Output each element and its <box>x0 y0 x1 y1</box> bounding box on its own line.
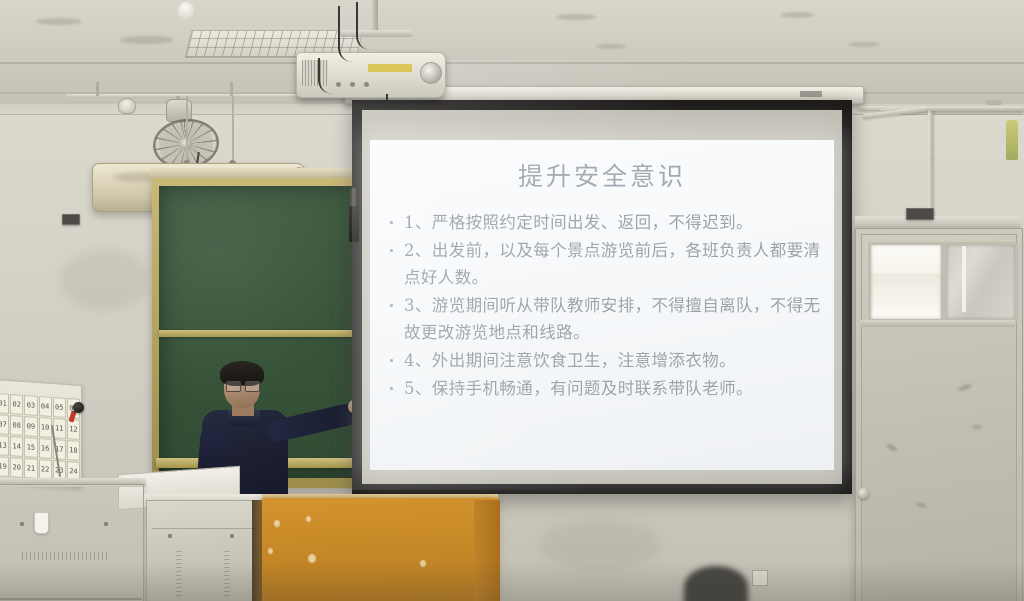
wall-clip <box>986 100 1002 105</box>
calendar-cell: 16 <box>39 438 52 459</box>
glasses-lens-left <box>226 381 241 392</box>
door-smudge <box>972 425 982 429</box>
ceiling-dome-light <box>178 2 194 20</box>
ceiling-stain <box>120 36 174 44</box>
calendar-cell: 18 <box>67 440 80 461</box>
door-smudge <box>886 442 899 452</box>
ceiling-stain <box>596 44 626 49</box>
calendar-cell: 01 <box>0 393 9 414</box>
calendar-cell: 14 <box>10 436 23 457</box>
glasses-icon <box>226 381 260 390</box>
projector-label <box>368 64 412 72</box>
slide-bullet-5: 5、保持手机畅通，有问题及时联系带队老师。 <box>388 375 822 402</box>
conduit-pipe <box>928 108 933 160</box>
roller-brand-badge <box>800 91 822 97</box>
calendar-grid: 0102030405060708091011121314151617181920… <box>0 392 81 486</box>
wall-plate <box>62 214 80 225</box>
ceiling-stain <box>556 14 596 20</box>
podium-mark <box>306 516 311 522</box>
calendar-cell: 20 <box>10 457 23 478</box>
blackboard-divider-rail <box>159 330 353 337</box>
calendar-cell: 08 <box>10 415 23 436</box>
ceiling-seam <box>0 62 1024 64</box>
ceiling-dome-light <box>118 98 136 114</box>
slide-bullet-4: 4、外出期间注意饮食卫生，注意增添衣物。 <box>388 347 822 374</box>
calendar-cell: 02 <box>10 394 23 415</box>
door-sign-plate <box>906 208 934 220</box>
projector-cable <box>318 58 334 94</box>
cabinet-screw <box>168 534 172 538</box>
calendar-cell: 12 <box>67 419 80 440</box>
calendar-cell: 09 <box>24 416 37 437</box>
door-window-left <box>868 242 944 322</box>
calendar-cell: 10 <box>39 417 52 438</box>
light-hanger-wire <box>232 96 234 166</box>
conduit-pipe <box>928 158 933 212</box>
calendar-cell: 03 <box>24 395 37 416</box>
rail-hook <box>230 82 233 96</box>
classroom-photo: 提升安全意识 1、严格按照约定时间出发、返回，不得迟到。 2、出发前，以及每个景… <box>0 0 1024 601</box>
conduit-pipe <box>928 106 1024 111</box>
window-mullion <box>962 246 966 312</box>
glasses-lens-right <box>245 381 260 392</box>
calendar-cell: 04 <box>39 396 52 417</box>
podium-mark <box>268 548 273 554</box>
cabinet-seam <box>152 528 260 529</box>
projector-button[interactable] <box>336 82 341 87</box>
cabinet-vent <box>22 552 108 560</box>
door-knob[interactable] <box>858 488 869 499</box>
calendar-cell: 15 <box>24 437 37 458</box>
slide-bullet-1: 1、严格按照约定时间出发、返回，不得迟到。 <box>388 209 822 236</box>
slide-content: 提升安全意识 1、严格按照约定时间出发、返回，不得迟到。 2、出发前，以及每个景… <box>374 143 830 465</box>
wall-blotch <box>60 250 150 310</box>
calendar-cell: 21 <box>24 458 37 479</box>
slide-bullet-2: 2、出发前，以及每个景点游览前后，各班负责人都要清点好人数。 <box>388 237 822 291</box>
wall-bottle <box>1006 120 1018 160</box>
ceiling-stain <box>848 42 880 47</box>
projector-button[interactable] <box>364 82 369 87</box>
calendar-pin[interactable] <box>73 402 84 413</box>
calendar-cell: 13 <box>0 435 9 456</box>
floor-shadow <box>0 561 1024 601</box>
door-rail <box>861 320 1015 327</box>
door-window-right <box>944 242 1018 322</box>
slide-bullet-3: 3、游览期间听从带队教师安排，不得擅自离队，不得无故更改游览地点和线路。 <box>388 292 822 346</box>
projector-button[interactable] <box>350 82 355 87</box>
ceiling-stain <box>780 12 814 18</box>
projector-lens <box>420 62 442 84</box>
cabinet-screw <box>230 534 234 538</box>
cabinet-screw <box>104 522 108 526</box>
presenter-right-arm <box>266 402 361 444</box>
screen-edge-clip[interactable] <box>349 206 359 242</box>
podium-mark <box>274 520 280 527</box>
cabinet-screw <box>20 522 24 526</box>
door-smudge <box>958 383 973 392</box>
projector-cable <box>356 2 376 50</box>
calendar-cell: 19 <box>0 456 9 477</box>
cabinet-tag <box>34 512 49 534</box>
light-hanger-wire <box>186 96 188 166</box>
slide-title: 提升安全意识 <box>374 157 830 193</box>
calendar-cell: 05 <box>53 397 66 418</box>
wall-calendar: 0102030405060708091011121314151617181920… <box>0 379 82 487</box>
slide-bullet-list: 1、严格按照约定时间出发、返回，不得迟到。 2、出发前，以及每个景点游览前后，各… <box>374 209 830 402</box>
door-smudge <box>916 502 928 509</box>
ceiling-stain <box>36 18 82 25</box>
calendar-cell: 22 <box>39 459 52 480</box>
rail-hook <box>96 82 99 96</box>
calendar-cell: 07 <box>0 414 9 435</box>
